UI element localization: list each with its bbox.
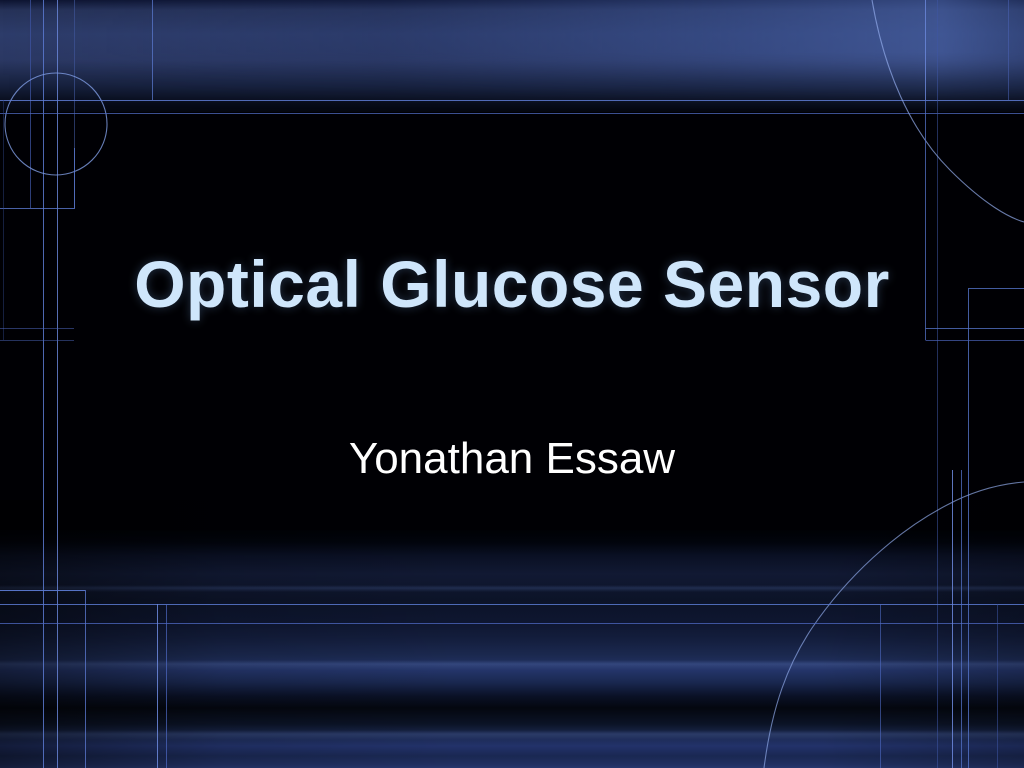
presentation-slide: Optical Glucose Sensor Yonathan Essaw — [0, 0, 1024, 768]
slide-subtitle: Yonathan Essaw — [96, 432, 928, 486]
slide-text-block: Optical Glucose Sensor Yonathan Essaw — [0, 0, 1024, 768]
page-title: Optical Glucose Sensor — [96, 246, 928, 322]
